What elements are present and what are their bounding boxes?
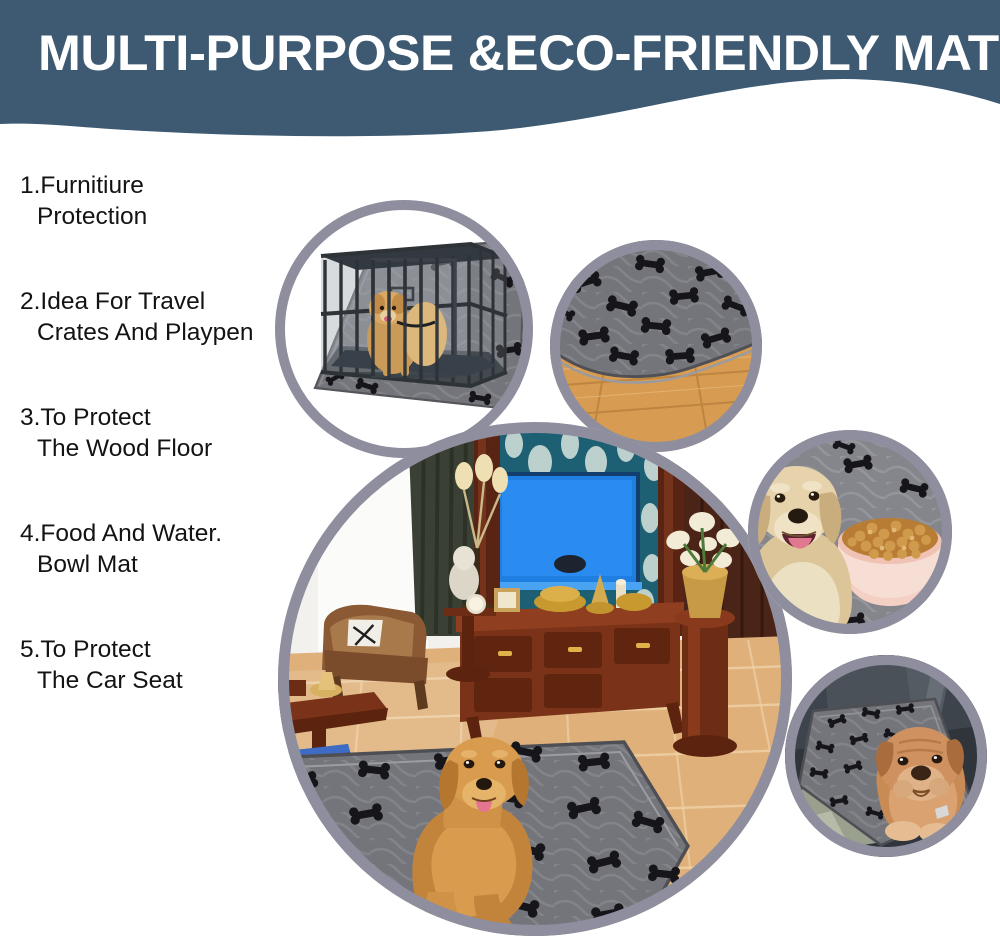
photo-car-seat bbox=[785, 655, 987, 857]
photo-food-bowl bbox=[748, 430, 952, 634]
wood-floor-scene bbox=[550, 240, 762, 452]
food-bowl-scene bbox=[748, 430, 952, 634]
living-room-scene bbox=[278, 422, 792, 936]
photo-crate-in-mat bbox=[275, 200, 533, 458]
pedestal bbox=[673, 608, 737, 757]
photo-living-room bbox=[278, 422, 792, 936]
photo-mat-on-wood-floor bbox=[550, 240, 762, 452]
photo-collage bbox=[0, 0, 1000, 946]
car-seat-scene bbox=[785, 655, 987, 857]
crate-scene bbox=[275, 200, 533, 458]
